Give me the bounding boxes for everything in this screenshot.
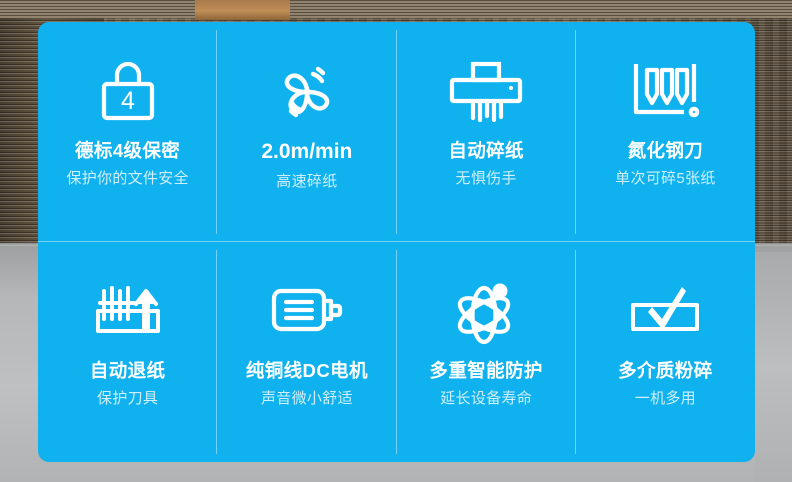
- feature-cell-motor[interactable]: 纯铜线DC电机 声音微小舒适: [217, 242, 396, 462]
- pinwheel-fan-icon: [270, 52, 344, 130]
- feature-cell-security[interactable]: 4 德标4级保密 保护你的文件安全: [38, 22, 217, 242]
- svg-text:4: 4: [121, 87, 135, 115]
- feature-subtitle: 高速碎纸: [276, 173, 337, 190]
- feature-title: 氮化钢刀: [628, 140, 704, 161]
- feature-title: 自动退纸: [90, 360, 166, 381]
- wood-plank-accent: [195, 0, 290, 20]
- feature-title: 德标4级保密: [75, 140, 180, 161]
- feature-subtitle: 延长设备寿命: [440, 390, 532, 407]
- feature-title: 多介质粉碎: [618, 360, 713, 381]
- feature-cell-speed[interactable]: 2.0m/min 高速碎纸: [217, 22, 396, 242]
- feature-title: 多重智能防护: [429, 360, 542, 381]
- floor-surface-right: [755, 252, 792, 482]
- paper-shredder-icon: [445, 52, 527, 130]
- feature-subtitle: 单次可碎5张纸: [615, 170, 715, 187]
- atom-protection-icon: [448, 272, 524, 350]
- feature-cell-multi-media[interactable]: 多介质粉碎 一机多用: [576, 242, 755, 462]
- steel-blades-icon: [626, 52, 704, 130]
- feature-subtitle: 声音微小舒适: [261, 390, 353, 407]
- feature-cell-blades[interactable]: 氮化钢刀 单次可碎5张纸: [576, 22, 755, 242]
- feature-title: 纯铜线DC电机: [246, 360, 368, 381]
- feature-cell-protection[interactable]: 多重智能防护 延长设备寿命: [397, 242, 576, 462]
- paper-eject-arrow-icon: [88, 272, 168, 350]
- media-slot-check-icon: [624, 272, 706, 350]
- feature-subtitle: 无惧伤手: [456, 170, 517, 187]
- feature-cell-paper-eject[interactable]: 自动退纸 保护刀具: [38, 242, 217, 462]
- feature-title: 自动碎纸: [448, 140, 524, 161]
- feature-grid-panel: 4 德标4级保密 保护你的文件安全 2.0m/min 高速碎纸: [38, 22, 755, 462]
- feature-subtitle: 保护你的文件安全: [66, 170, 188, 187]
- dc-motor-icon: [266, 272, 348, 350]
- feature-title: 2.0m/min: [261, 140, 352, 164]
- wall-top-strip: [0, 0, 792, 18]
- feature-cell-auto-shred[interactable]: 自动碎纸 无惧伤手: [397, 22, 576, 242]
- feature-subtitle: 一机多用: [635, 390, 696, 407]
- lock-level4-icon: 4: [92, 52, 164, 130]
- feature-subtitle: 保护刀具: [97, 390, 158, 407]
